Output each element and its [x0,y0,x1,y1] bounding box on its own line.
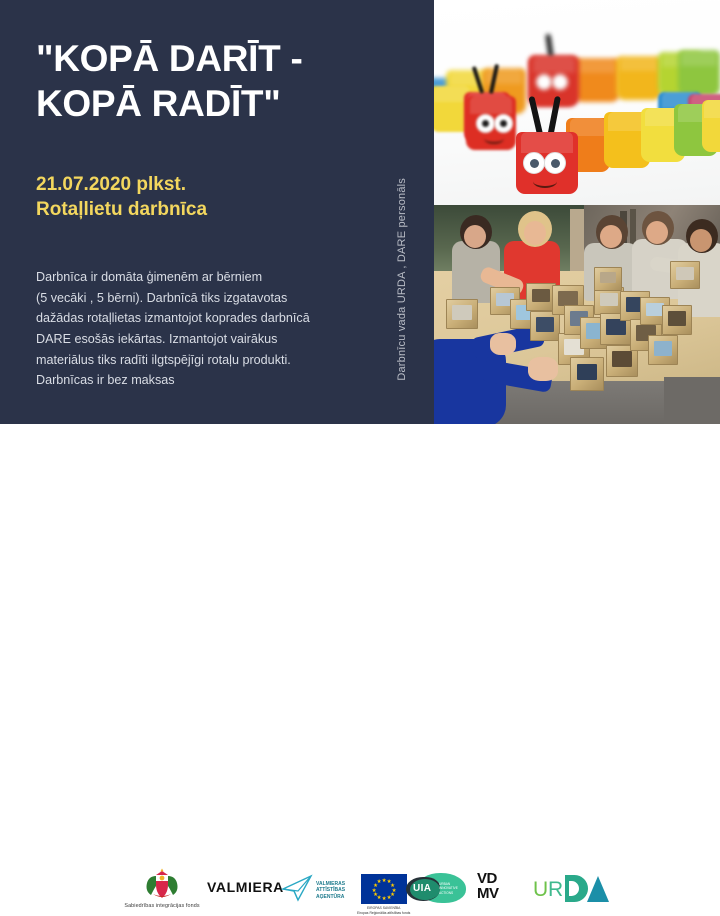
children-workshop-photo [434,205,720,424]
logo-valmiera: VALMIERA [207,879,284,895]
european-union-flag-icon: ★ ★ ★ ★ ★ ★ ★ ★ ★ ★ ★ ★ [361,874,407,904]
description-line: dažādas rotaļlietas izmantojot koprades … [36,308,396,329]
urda-wordmark-icon: U R [533,874,611,906]
vdmv-monogram-icon: VD MV [477,872,517,906]
uia-subtext: URBAN INNOVATIVE ACTIONS [439,882,458,895]
poster-left-panel: "KOPĀ DARĪT - KOPĀ RADĪT" 21.07.2020 plk… [0,0,434,424]
poster-title: "KOPĀ DARĪT - KOPĀ RADĪT" [36,36,406,126]
logo-vdmv: VD MV [477,872,517,906]
description-line: Darbnīca ir domāta ģimenēm ar bērniem [36,267,396,288]
logo-urban-innovative-actions: UIA URBAN INNOVATIVE ACTIONS [406,873,468,905]
uia-sub-2: INNOVATIVE [439,886,458,890]
description-line: DARE esošās iekārtas. Izmantojot vairāku… [36,329,396,350]
vaa-line-3: AĢENTŪRA [316,894,345,901]
paper-plane-icon [281,874,313,907]
logo-sabiedribas-integracijas-fonds: Sabiedrības integrācijas fonds [117,868,207,909]
poster-subtitle: 21.07.2020 plkst. Rotaļlietu darbnīca [36,172,406,223]
title-line-1: "KOPĀ DARĪT - [36,36,406,81]
event-poster: "KOPĀ DARĪT - KOPĀ RADĪT" 21.07.2020 plk… [0,0,720,517]
vertical-credit-text: Darbnīcu vada URDA , DARE personāls [396,178,408,381]
vdmv-line-2: MV [477,887,517,902]
vaa-line-2: ATTĪSTĪBAS [316,887,345,894]
description-line: materiālus tiks radīti ilgtspējīgi rotaļ… [36,350,396,371]
eu-caption-line-2: Eiropas Reģionālās attīstības fonds [357,911,410,916]
logo-valmieras-attistibas-agentura: VALMIERAS ATTĪSTĪBAS AĢENTŪRA [281,874,345,907]
event-name: Rotaļlietu darbnīca [36,197,406,222]
logo-urda: U R [533,874,611,906]
event-date: 21.07.2020 plkst. [36,172,406,197]
partner-logo-bar: Sabiedrības integrācijas fonds VALMIERA … [0,424,720,517]
vaa-wordmark: VALMIERAS ATTĪSTĪBAS AĢENTŪRA [316,881,345,901]
urda-letter-r: R [548,879,563,900]
description-line: (5 vecāki , 5 bērni). Darbnīcā tiks izga… [36,288,396,309]
vaa-line-1: VALMIERAS [316,881,345,888]
vdmv-line-1: VD [477,872,517,887]
description-line: Darbnīcas ir bez maksas [36,370,396,391]
uia-sub-3: ACTIONS [439,891,458,895]
urda-letter-u: U [533,879,548,900]
poster-description: Darbnīca ir domāta ģimenēm ar bērniem (5… [36,267,396,391]
uia-letters: UIA [413,883,431,894]
logo-caption: Sabiedrības integrācijas fonds [124,903,199,909]
title-line-2: KOPĀ RADĪT" [36,81,406,126]
valmiera-wordmark-icon: VALMIERA [207,879,284,895]
uia-blob-icon: UIA URBAN INNOVATIVE ACTIONS [406,873,468,905]
poster-photo-column [434,0,720,424]
logo-european-union: ★ ★ ★ ★ ★ ★ ★ ★ ★ ★ ★ ★ EIROPAS SAVIENĪB… [357,874,410,916]
caterpillar-toys-photo [434,0,720,205]
urda-letter-a [587,876,609,902]
latvian-coat-of-arms-icon [142,868,182,901]
